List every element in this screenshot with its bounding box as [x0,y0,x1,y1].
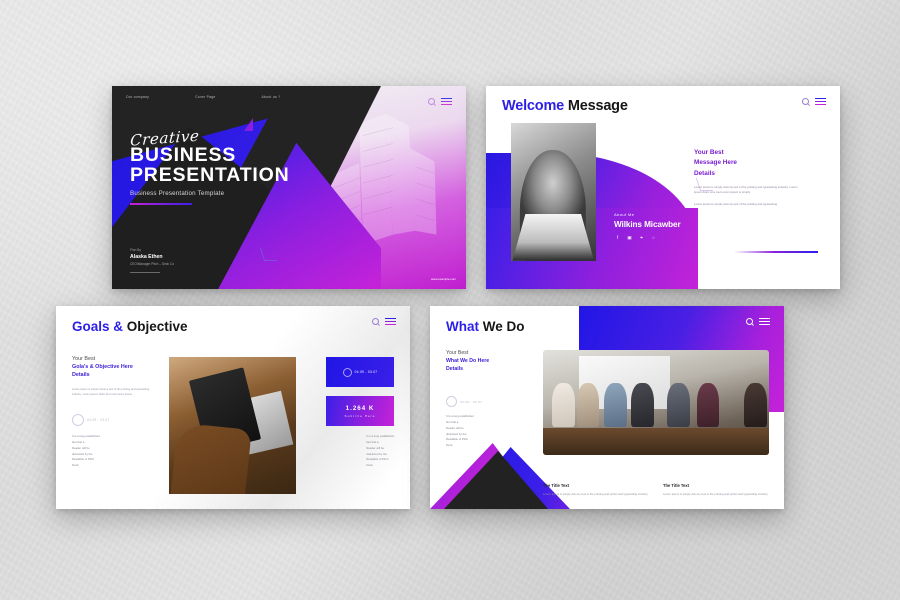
wwd-column: The Title Text Lorem ipsum is simply dum… [543,483,649,497]
circle-outline-icon [446,396,457,407]
welcome-title-accent: Welcome [502,98,564,114]
stat-box-2-subtitle: Subtitle Here [345,414,376,418]
wwd-column: The Title Text Lorem ipsum is simply dum… [663,483,769,497]
slide-welcome[interactable]: Welcome Message About Me Wilkins Micawbe… [486,86,840,289]
person-name: Wilkins Micawber [614,220,681,229]
goals-ui-icons [372,318,396,325]
circle-outline-icon [343,368,352,377]
wwd-bullets: It is a long established fact that a Rea… [446,414,474,449]
stat-box-1-label: 04.09 - 03.07 [355,370,378,374]
photo-person [552,383,575,427]
credit-role: CEO/Manager Pitch – Deck Co [130,262,174,266]
wwd-columns: The Title Text Lorem ipsum is simply dum… [543,483,769,497]
welcome-title-block: Welcome Message [502,98,628,114]
stat-box-2-value: 1.264 K [346,405,375,412]
welcome-accent-bar [734,251,818,253]
cover-ui-icons [428,98,452,105]
photo-conference-table [543,428,769,455]
nav-item-cover-page[interactable]: Cover Page [195,95,215,99]
photo-arm [170,422,251,494]
message-heading-2: Message Here [694,159,737,166]
cover-accent-bar [130,203,192,205]
hamburger-menu-icon[interactable] [815,98,826,105]
message-heading-3: Details [694,170,715,177]
wwd-eyebrow: Your Best [446,350,522,356]
wwd-left-text: Your Best What We Do Here Details [446,350,522,373]
photo-person [667,383,690,427]
goals-bullets-left: It is a long established fact that a Rea… [72,434,100,469]
message-paragraph-1: Lorem ipsum is simply dummy text of the … [694,185,806,196]
social-links: f ▣ ❧ ○ [614,234,681,241]
wwd-title-rest: We Do [483,319,525,334]
welcome-portrait-photo [511,123,596,261]
wwd-column-body: Lorem ipsum is simply dummy text of the … [663,492,769,497]
twitter-icon[interactable]: ❧ [638,234,645,241]
goals-bullets-right: It is a long established fact that a Rea… [366,434,394,469]
wwd-heading-2: Details [446,366,463,372]
instagram-icon[interactable]: ▣ [626,234,633,241]
message-heading-1: Your Best [694,149,724,156]
wwd-date-range: 04.09 - 03.07 [460,400,482,404]
goals-date-range: 04.09 - 03.07 [87,418,110,422]
photo-person [697,383,720,427]
goals-paragraph: Lorem ipsum is simply dummy text of the … [72,387,156,397]
credit-divider [130,272,160,273]
wwd-title-accent: What [446,319,479,334]
welcome-ui-icons [802,98,826,105]
welcome-message-block: Your Best Message Here Details Lorem ips… [694,148,806,207]
wwd-column-title: The Title Text [663,483,769,488]
facebook-icon[interactable]: f [614,234,621,241]
search-icon[interactable] [746,318,753,325]
portrait-shirt [512,214,594,261]
welcome-title-rest: Message [568,98,628,114]
cover-title-block: Creative BUSINESS PRESENTATION Business … [130,126,289,205]
hamburger-menu-icon[interactable] [441,98,452,105]
cover-title-line-2: PRESENTATION [130,165,289,185]
cover-nav: Our company Cover Page About us ? [112,95,466,99]
search-icon[interactable] [428,98,435,105]
goals-circle-label: 04.09 - 03.07 [72,414,110,426]
nav-item-our-company[interactable]: Our company [126,95,149,99]
goals-stat-box-primary[interactable]: 04.09 - 03.07 [326,357,394,387]
nav-item-about-us[interactable]: About us ? [262,95,281,99]
wwd-ui-icons [746,318,770,325]
message-paragraph-2: Lorem ipsum is simply dummy text of the … [694,202,806,207]
circle-outline-icon [72,414,84,426]
credit-label: Plan By [130,248,174,252]
goals-heading-1: Gola's & Objective Here [72,364,133,370]
photo-person [722,383,745,427]
wwd-title-block: What We Do [446,319,525,334]
goals-title-accent: Goals & [72,319,123,334]
wwd-column-body: Lorem ipsum is simply dummy text of the … [543,492,649,497]
slide-goals[interactable]: Goals & Objective Your Best Gola's & Obj… [56,306,410,509]
slide-what-we-do[interactable]: What We Do Your Best What We Do Here Det… [430,306,784,509]
welcome-about-block: About Me Wilkins Micawber f ▣ ❧ ○ [614,212,681,241]
photo-person [577,383,600,427]
wwd-column-title: The Title Text [543,483,649,488]
photo-person [744,383,767,427]
goals-photo-tablet [169,357,296,494]
wwd-photo-meeting [543,350,769,455]
goals-heading-2: Details [72,372,90,378]
goals-stat-box-gradient[interactable]: 1.264 K Subtitle Here [326,396,394,426]
goals-title-block: Goals & Objective [72,319,188,334]
goals-left-text: Your Best Gola's & Objective Here Detail… [72,356,156,397]
credit-name: Alaska Ethen [130,254,174,260]
whatsapp-icon[interactable]: ○ [650,234,657,241]
wwd-heading-1: What We Do Here [446,358,489,364]
slide-cover[interactable]: Our company Cover Page About us ? Creati… [112,86,466,289]
cover-credit-block: Plan By Alaska Ethen CEO/Manager Pitch –… [130,248,174,273]
hamburger-menu-icon[interactable] [759,318,770,325]
wwd-circle-label: 04.09 - 03.07 [446,396,482,407]
goals-eyebrow: Your Best [72,356,156,362]
about-label: About Me [614,212,681,217]
search-icon[interactable] [372,318,379,325]
cover-website[interactable]: www.example.com [431,277,456,281]
hamburger-menu-icon[interactable] [385,318,396,325]
search-icon[interactable] [802,98,809,105]
photo-person [631,383,654,427]
photo-person [604,383,627,427]
cover-title-line-1: BUSINESS [130,145,289,165]
cover-subtitle: Business Presentation Template [130,190,289,197]
goals-title-rest: Objective [127,319,188,334]
